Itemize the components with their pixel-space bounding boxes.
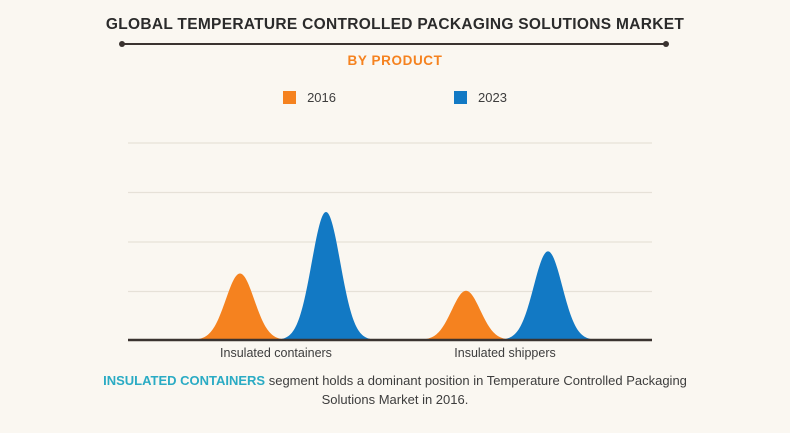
density-curves bbox=[196, 212, 592, 340]
x-axis-labels: Insulated containers Insulated shippers bbox=[128, 346, 652, 364]
gridlines bbox=[128, 143, 652, 292]
caption-text: segment holds a dominant position in Tem… bbox=[265, 373, 687, 407]
chart-card: GLOBAL TEMPERATURE CONTROLLED PACKAGING … bbox=[0, 0, 790, 433]
density-curve-2023-0[interactable] bbox=[282, 212, 370, 340]
density-curve-2023-1[interactable] bbox=[504, 251, 592, 340]
density-curve-2016-1[interactable] bbox=[422, 291, 510, 340]
x-label-insulated-shippers: Insulated shippers bbox=[454, 346, 555, 360]
density-curve-2016-0[interactable] bbox=[196, 274, 284, 340]
x-label-insulated-containers: Insulated containers bbox=[220, 346, 332, 360]
plot-area bbox=[0, 0, 790, 433]
caption-highlight: INSULATED CONTAINERS bbox=[103, 373, 265, 388]
chart-svg bbox=[0, 0, 790, 433]
chart-caption: INSULATED CONTAINERS segment holds a dom… bbox=[95, 371, 695, 409]
